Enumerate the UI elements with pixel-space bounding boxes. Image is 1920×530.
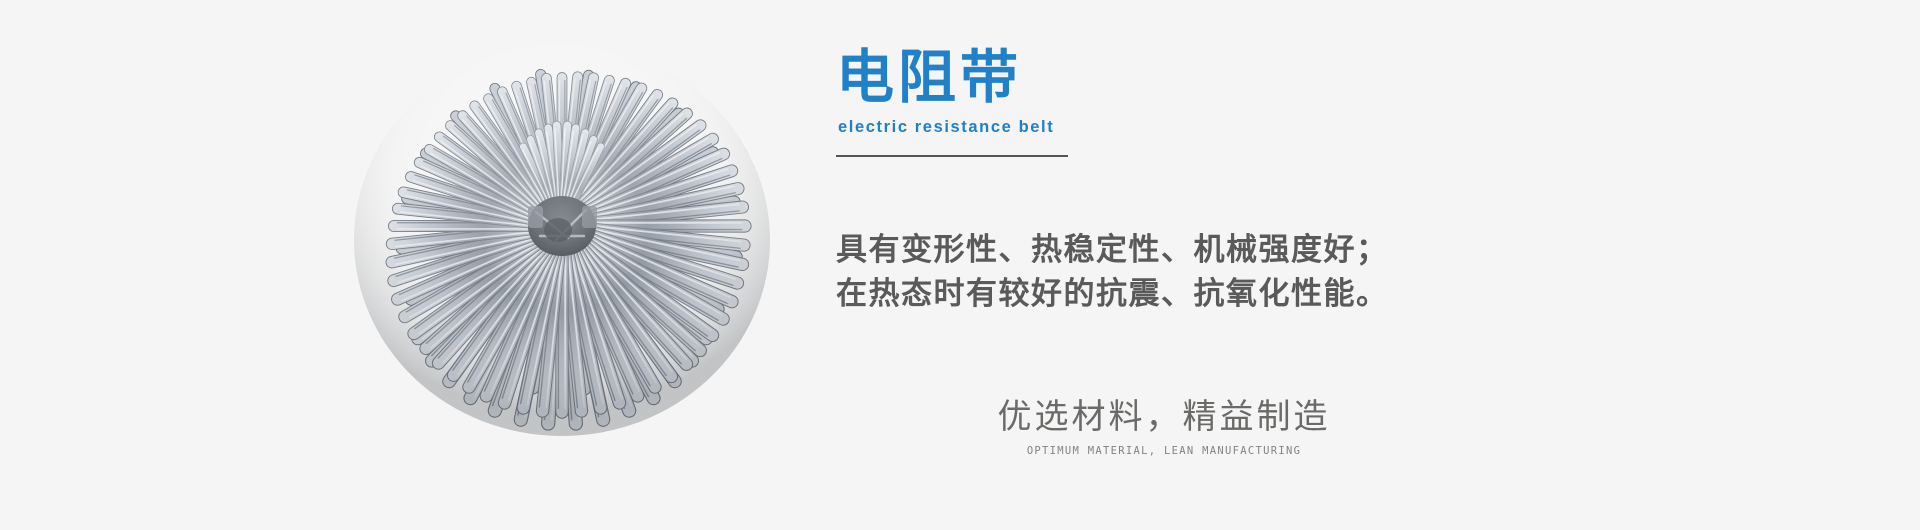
page-title: 电阻带	[836, 46, 1396, 108]
page-subtitle: electric resistance belt	[838, 118, 1396, 137]
product-image	[300, 38, 860, 508]
description-line: 具有变形性、热稳定性、机械强度好；	[836, 228, 1476, 272]
tagline-block: 优选材料，精益制造 OPTIMUM MATERIAL, LEAN MANUFAC…	[954, 396, 1374, 458]
product-banner: 电阻带 electric resistance belt 具有变形性、热稳定性、…	[0, 0, 1920, 530]
description-block: 具有变形性、热稳定性、机械强度好； 在热态时有较好的抗震、抗氧化性能。	[836, 228, 1476, 316]
description-line: 在热态时有较好的抗震、抗氧化性能。	[836, 272, 1476, 316]
tagline-sub: OPTIMUM MATERIAL, LEAN MANUFACTURING	[954, 444, 1374, 458]
copy-column: 电阻带 electric resistance belt 具有变形性、热稳定性、…	[836, 0, 1836, 530]
title-divider	[836, 155, 1068, 157]
tagline-main: 优选材料，精益制造	[954, 396, 1374, 438]
title-block: 电阻带 electric resistance belt	[836, 46, 1396, 157]
